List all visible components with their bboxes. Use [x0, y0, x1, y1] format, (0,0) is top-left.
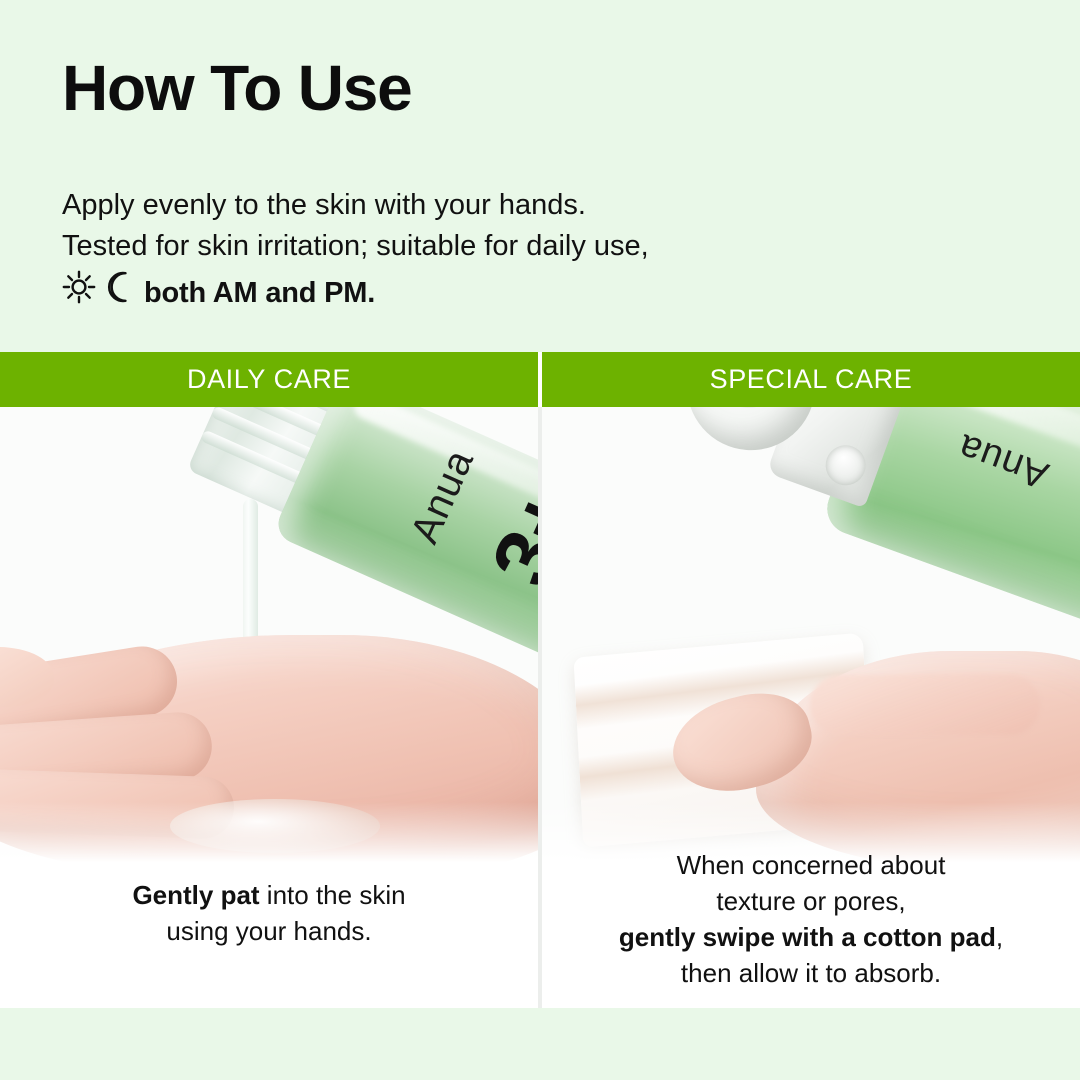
caption-line: When concerned about — [578, 847, 1044, 883]
caption-bold: gently swipe with a cotton pad — [619, 922, 996, 952]
caption-rest: into the skin — [260, 880, 406, 910]
knuckles — [810, 675, 1040, 735]
care-panels: Anua 3+ Gently pat into the skin usi — [0, 407, 1080, 1008]
bottom-strip — [0, 1008, 1080, 1080]
cap-nozzle — [820, 440, 871, 491]
intro-line-2: Tested for skin irritation; suitable for… — [62, 226, 649, 267]
caption-line: then allow it to absorb. — [578, 955, 1044, 991]
care-header-row: DAILY CARE SPECIAL CARE — [0, 352, 1080, 407]
caption-line: using your hands. — [36, 913, 502, 949]
caption-line: gently swipe with a cotton pad, — [578, 919, 1044, 955]
caption-rest: , — [996, 922, 1003, 952]
infographic-page: How To Use Apply evenly to the skin with… — [0, 0, 1080, 1080]
panel-special-care: Anua When concerned about texture or por… — [542, 407, 1080, 1008]
care-comparison-card: DAILY CARE SPECIAL CARE Anua — [0, 352, 1080, 1008]
intro-body: Apply evenly to the skin with your hands… — [62, 185, 649, 316]
panel-daily-care: Anua 3+ Gently pat into the skin usi — [0, 407, 538, 1008]
caption-bold: Gently pat — [132, 880, 259, 910]
caption-line: texture or pores, — [578, 883, 1044, 919]
moon-icon — [105, 270, 135, 316]
photo-pour-into-palm: Anua 3+ — [0, 407, 538, 862]
page-title: How To Use — [62, 55, 412, 122]
caption-special-care: When concerned about texture or pores, g… — [542, 847, 1080, 991]
header-daily-care: DAILY CARE — [0, 352, 538, 407]
photo-cotton-pad: Anua — [542, 407, 1080, 862]
finger — [0, 768, 235, 839]
header-special-care: SPECIAL CARE — [542, 352, 1080, 407]
caption-daily-care: Gently pat into the skin using your hand… — [0, 877, 538, 949]
sun-icon — [62, 270, 96, 316]
caption-line: Gently pat into the skin — [36, 877, 502, 913]
intro-section: How To Use Apply evenly to the skin with… — [0, 0, 1080, 352]
ampm-line: both AM and PM. — [62, 270, 649, 316]
liquid-pool — [170, 799, 380, 853]
ampm-label: both AM and PM. — [144, 273, 375, 314]
intro-line-1: Apply evenly to the skin with your hands… — [62, 185, 649, 226]
product-bottle-right: Anua — [733, 407, 1080, 644]
